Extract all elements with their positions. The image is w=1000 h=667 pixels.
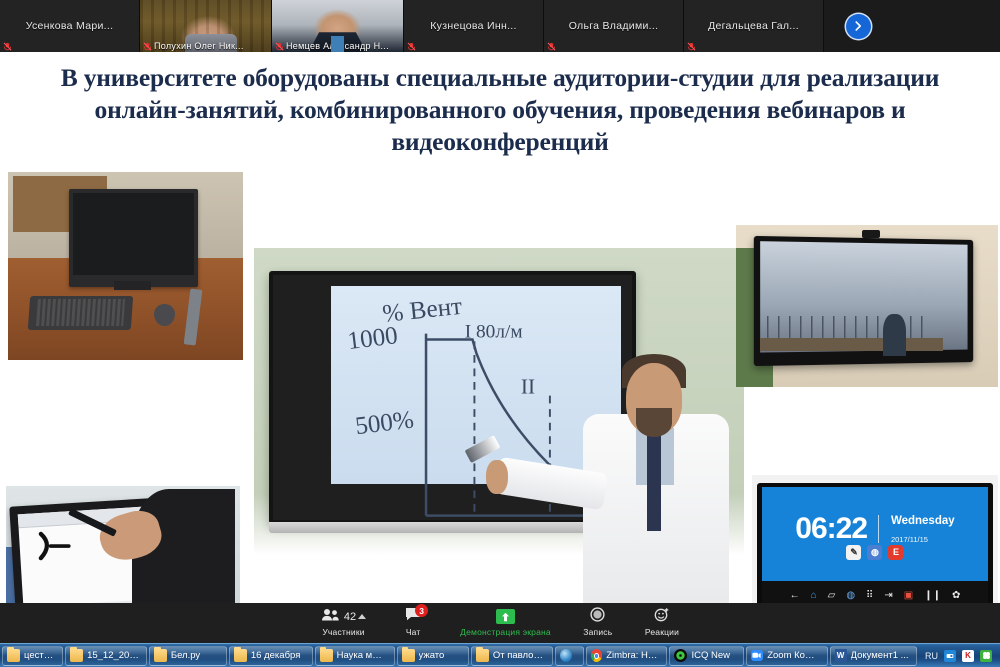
person-shape — [883, 314, 907, 356]
taskbar-button-6[interactable]: От павлово... — [471, 646, 553, 666]
keyboard-shape — [28, 296, 134, 330]
input-icon[interactable]: ⇥ — [884, 591, 892, 601]
presenter-figure — [573, 340, 740, 624]
chevron-right-icon — [846, 14, 871, 39]
taskbar-button-4[interactable]: Наука моло... — [315, 646, 395, 666]
record-button[interactable]: Запись — [567, 603, 629, 643]
folder-icon — [476, 649, 489, 662]
mute-icon — [3, 42, 12, 51]
taskbar-button-label: Zoom Конф... — [767, 650, 819, 661]
mute-icon — [143, 42, 152, 51]
mute-icon — [407, 42, 416, 51]
note-icon[interactable]: E — [888, 545, 903, 560]
lab-bench-shape — [760, 338, 943, 351]
photo-wall-display-lab — [736, 225, 998, 387]
taskbar-button-label: 16 декабря — [251, 650, 300, 661]
participant-tile-3[interactable]: Немцев Александр Н... — [272, 0, 404, 52]
folder-icon — [320, 649, 333, 662]
taskbar-button-label: Бел.ру — [171, 650, 200, 661]
chat-button[interactable]: 3 Чат — [382, 603, 444, 643]
next-participants-button[interactable] — [824, 0, 892, 52]
zoom-icon — [751, 650, 763, 661]
reactions-icon — [654, 607, 670, 627]
taskbar-button-10[interactable]: Zoom Конф... — [746, 646, 828, 666]
participant-name: Дегальцева Гал... — [684, 20, 823, 32]
folder-icon — [154, 649, 167, 662]
participant-name: Усенкова Мари... — [0, 20, 139, 32]
language-indicator[interactable]: RU — [925, 651, 938, 661]
panel-screen: 06:22 Wednesday 2017/11/15 ✎ ◍ E — [762, 487, 988, 581]
clock-day-of-week: Wednesday — [891, 515, 955, 527]
share-screen-icon — [496, 609, 515, 624]
chevron-up-icon[interactable] — [358, 614, 366, 619]
kaspersky-icon[interactable]: K — [962, 650, 974, 662]
taskbar-button-8[interactable]: Zimbra: Нап... — [586, 646, 668, 666]
page-title: В университете оборудованы специальные а… — [20, 62, 980, 158]
camera-icon — [862, 230, 880, 238]
zoom-meeting-window: Усенкова Мари... Полухин Олег Ник... Нем… — [0, 0, 1000, 667]
taskbar-button-0[interactable]: цествен... — [2, 646, 63, 666]
taskbar-button-3[interactable]: 16 декабря — [229, 646, 313, 666]
folder-icon — [70, 649, 83, 662]
participant-name: Полухин Олег Ник... — [140, 41, 271, 51]
mute-icon — [547, 42, 556, 51]
taskbar-button-label: От павлово... — [493, 650, 545, 661]
icq-icon — [674, 649, 687, 662]
folder-icon — [402, 649, 415, 662]
record-label: Запись — [583, 627, 612, 637]
participant-tile-1[interactable]: Усенкова Мари... — [0, 0, 140, 52]
browser-icon[interactable]: ◍ — [867, 545, 882, 560]
chat-icon: 3 — [405, 607, 421, 626]
participants-button[interactable]: 42 Участники — [305, 603, 382, 643]
photo-presenter-studio: % Вент 1000 500% I 80л/м II — [254, 248, 744, 632]
mute-icon — [687, 42, 696, 51]
browser-icon[interactable]: ◍ — [846, 591, 855, 601]
participant-filmstrip: Усенкова Мари... Полухин Олег Ник... Нем… — [0, 0, 1000, 52]
participants-count: 42 — [344, 611, 356, 623]
participant-tile-2[interactable]: Полухин Олег Ник... — [140, 0, 272, 52]
taskbar-button-11[interactable]: W Документ1 ... — [830, 646, 917, 666]
handwritten-stroke — [25, 529, 86, 565]
taskbar-button-label: ужато — [419, 650, 445, 661]
participant-tile-4[interactable]: Кузнецова Инн... — [404, 0, 544, 52]
taskbar-button-label: 15_12_2020_ ... — [87, 650, 139, 661]
clock-divider — [878, 515, 879, 543]
participants-icon — [321, 608, 340, 626]
clock-time: 06:22 — [795, 514, 867, 544]
home-icon[interactable]: ⌂ — [811, 591, 817, 601]
taskbar-button-9[interactable]: ICQ New — [669, 646, 743, 666]
taskbar-button-label: Наука моло... — [337, 650, 387, 661]
participant-name: Кузнецова Инн... — [404, 20, 543, 32]
back-icon[interactable]: ← — [790, 591, 800, 601]
word-icon: W — [835, 649, 847, 662]
whiteboard-icon[interactable]: ▱ — [828, 591, 836, 601]
note-icon[interactable]: ▣ — [904, 591, 913, 601]
taskbar-button-label: ICQ New — [691, 650, 730, 661]
pause-icon[interactable]: ❙❙ — [924, 591, 941, 601]
share-screen-label: Демонстрация экрана — [460, 627, 551, 637]
mouse-shape — [154, 304, 175, 327]
folder-icon — [7, 649, 20, 662]
participant-tile-6[interactable]: Дегальцева Гал... — [684, 0, 824, 52]
network-icon[interactable] — [944, 650, 956, 662]
clock-widget: 06:22 Wednesday 2017/11/15 — [762, 511, 988, 547]
clover-icon[interactable] — [980, 650, 992, 662]
shared-slide: В университете оборудованы специальные а… — [0, 52, 1000, 603]
system-tray: RU K — [919, 650, 998, 662]
panel-frame: 06:22 Wednesday 2017/11/15 ✎ ◍ E ← — [757, 483, 993, 614]
settings-icon[interactable]: ✿ — [952, 591, 960, 601]
mute-icon — [275, 42, 284, 51]
taskbar-button-label: Документ1 ... — [851, 650, 909, 661]
photo-desk-setup — [8, 172, 243, 360]
svg-text:1000: 1000 — [346, 322, 399, 355]
clock-date: 2017/11/15 — [891, 535, 928, 544]
whiteboard-icon[interactable]: ✎ — [846, 545, 861, 560]
record-icon — [590, 607, 605, 627]
chat-label: Чат — [406, 627, 421, 637]
ie-icon — [560, 649, 572, 662]
taskbar-button-label: цествен... — [24, 650, 55, 661]
participant-tile-5[interactable]: Ольга Владими... — [544, 0, 684, 52]
apps-icon[interactable]: ⠿ — [866, 591, 873, 601]
reactions-label: Реакции — [645, 627, 679, 637]
taskbar-button-label: Zimbra: Нап... — [606, 650, 659, 661]
taskbar-button-5[interactable]: ужато — [397, 646, 469, 666]
monitor-stand — [114, 281, 152, 290]
folder-icon — [234, 649, 247, 662]
svg-text:500%: 500% — [354, 406, 416, 440]
participants-label: Участники — [322, 627, 364, 637]
quick-launch-row: ✎ ◍ E — [762, 545, 988, 560]
chat-badge: 3 — [415, 604, 428, 617]
share-screen-button[interactable]: Демонстрация экрана — [444, 603, 567, 643]
taskbar-button-7[interactable] — [555, 646, 584, 666]
windows-taskbar: цествен... 15_12_2020_ ... Бел.ру 16 дек… — [0, 643, 1000, 667]
chrome-icon — [591, 649, 603, 662]
taskbar-button-2[interactable]: Бел.ру — [149, 646, 227, 666]
taskbar-button-1[interactable]: 15_12_2020_ ... — [65, 646, 147, 666]
participant-name: Ольга Владими... — [544, 20, 683, 32]
zoom-toolbar: 42 Участники 3 Чат Демонстрация экрана — [0, 603, 1000, 643]
monitor-shape — [69, 189, 198, 287]
svg-text:II: II — [521, 375, 535, 399]
reactions-button[interactable]: Реакции — [629, 603, 695, 643]
